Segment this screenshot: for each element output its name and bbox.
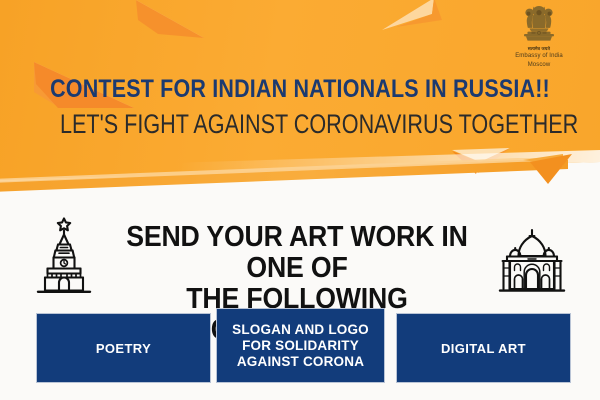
decor-triangle-top-left-icon (118, 0, 204, 38)
embassy-emblem: सत्यमेव जयते Embassy of India Moscow (500, 4, 578, 69)
kremlin-spasskaya-tower-icon (33, 216, 95, 299)
poster-canvas: सत्यमेव जयते Embassy of India Moscow CON… (0, 0, 600, 400)
category-list: POETRY SLOGAN AND LOGO FOR SOLIDARITY AG… (0, 300, 600, 392)
emblem-org-line1: Embassy of India (500, 52, 578, 61)
category-box-digital-art[interactable]: DIGITAL ART (396, 313, 571, 383)
national-emblem-of-india-icon (517, 4, 561, 46)
taj-mahal-icon (497, 228, 567, 299)
header-title-line2: LET'S FIGHT AGAINST CORONAVIRUS TOGETHER (60, 109, 540, 140)
category-box-slogan-and-logo[interactable]: SLOGAN AND LOGO FOR SOLIDARITY AGAINST C… (216, 308, 385, 383)
header-title-line1: CONTEST FOR INDIAN NATIONALS IN RUSSIA!! (42, 75, 558, 104)
category-box-poetry[interactable]: POETRY (36, 313, 211, 383)
decor-ribbon-arrow (0, 158, 590, 203)
header-section: सत्यमेव जयते Embassy of India Moscow CON… (0, 0, 600, 215)
emblem-org-line2: Moscow (500, 61, 578, 70)
body-headline-line1: SEND YOUR ART WORK IN ONE OF (126, 221, 468, 284)
decor-triangle-top-right-icon (382, 0, 452, 30)
